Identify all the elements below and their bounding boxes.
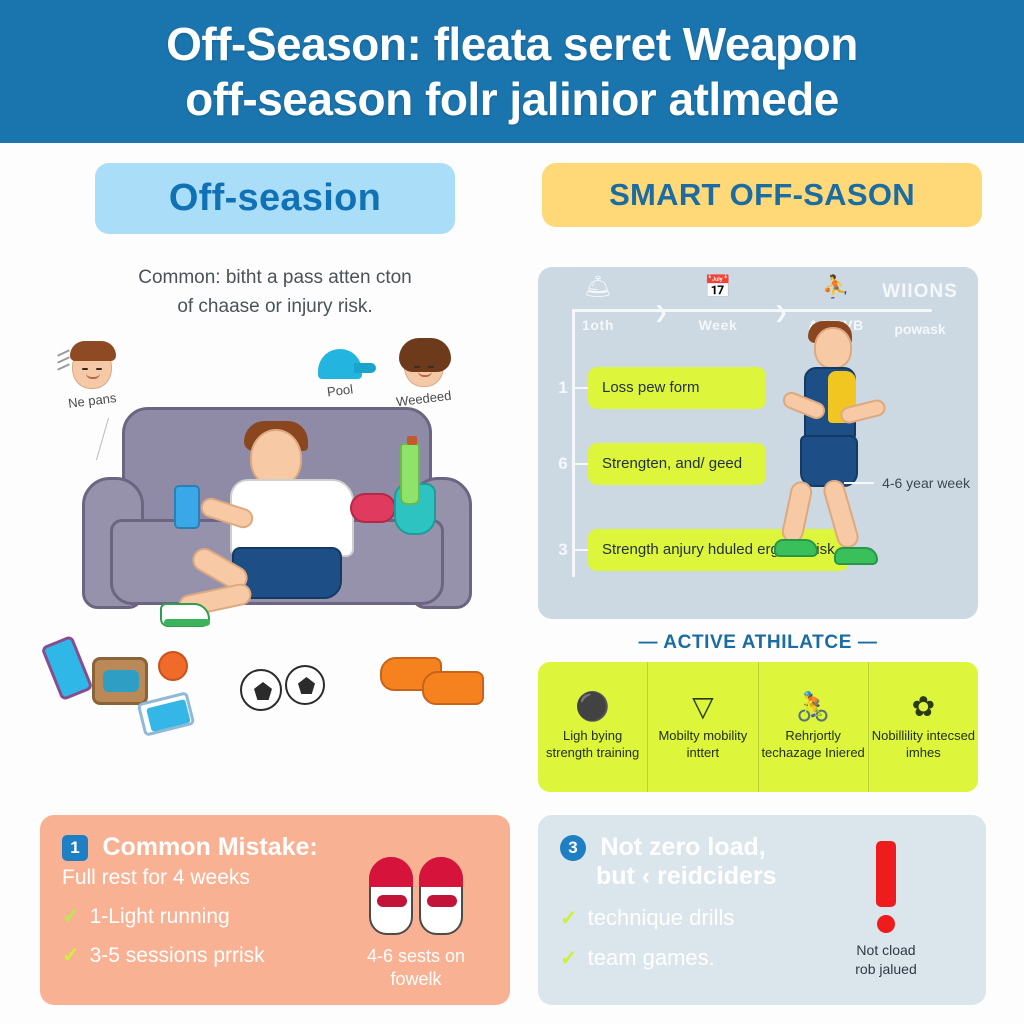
callout-sleepy: Ne pans (68, 345, 116, 408)
check-icon: ✓ (62, 943, 80, 968)
cone-icon: ▽ (692, 692, 714, 722)
active-item-3[interactable]: 🚴 Rehrjortly techazage Iniered (759, 662, 869, 792)
common-mistake-check-2-label: 3-5 sessions prrisk (90, 944, 265, 968)
callout-label-cap: Pool (317, 380, 363, 400)
card-badge-1: 1 (62, 835, 88, 861)
couch-illustration: Ne pans Pool Weedeed (40, 339, 510, 799)
exclamation-mark-icon (876, 841, 896, 907)
timeline-node-1-label: 1oth (550, 317, 646, 333)
timeline-connector (572, 549, 588, 551)
warning-art: Not cload rob jalued (826, 841, 946, 979)
infographic-page: Off-Season: fleata seret Weapon off-seas… (0, 0, 1024, 1024)
calendar-icon: 📅 (670, 275, 766, 299)
left-subcaption: Common: bitht a pass atten cton of chaas… (40, 264, 510, 321)
not-zero-load-card: 3 Not zero load, but ‹ reidciders ✓ tech… (538, 815, 986, 1005)
runner-shoe (834, 547, 878, 565)
common-mistake-card: 1 Common Mistake: Full rest for 4 weeks … (40, 815, 510, 1005)
active-item-1[interactable]: ⚫ Ligh bying strength training (538, 662, 648, 792)
timeline-row-number: 3 (554, 540, 572, 560)
not-zero-load-check-2-label: team games. (588, 945, 715, 971)
shoe-pair-icon (356, 857, 476, 935)
left-subcaption-line-2: of chaase or injury risk. (40, 293, 510, 322)
running-athlete-illustration (770, 319, 900, 609)
timeline-note: 4-6 year week (844, 475, 970, 491)
card-badge-3: 3 (560, 835, 586, 861)
boy-smartphone-icon (174, 485, 200, 529)
mobility-icon: ✿ (912, 692, 935, 722)
running-shoes-art: 4-6 sests on fowelk (356, 857, 476, 990)
timeline-arrow-icon: ❯ (654, 303, 668, 323)
timeline-connector (572, 387, 588, 389)
active-person-icon: ⛹ (788, 275, 884, 299)
shoe-caption-line-1: 4-6 sests on (356, 945, 476, 968)
timeline-panel: 🛎 1oth ❯ 📅 Week ❯ ⛹ ACTIVB WIIONS powask… (538, 267, 978, 619)
water-bottle-icon (400, 443, 420, 505)
not-zero-load-check-1-label: technique drills (588, 905, 735, 931)
check-icon: ✓ (560, 906, 578, 931)
warning-caption-line-2: rob jalued (826, 960, 946, 979)
timeline-row-box: Strengten, and/ geed (588, 443, 766, 485)
shoe-icon (369, 857, 413, 935)
floor-sneaker-icon (422, 671, 484, 705)
active-item-4[interactable]: ✿ Nobillility intecsed imhes (869, 662, 978, 792)
runner-shoe (774, 539, 818, 557)
active-section-strip: ⚫ Ligh bying strength training ▽ Mobilty… (538, 662, 978, 792)
common-mistake-check-1-label: 1-Light running (90, 905, 230, 929)
sleep-lines-icon (57, 352, 70, 373)
timeline-node-2: 📅 Week (670, 275, 766, 333)
active-item-1-label: Ligh bying strength training (540, 728, 645, 762)
shoe-caption: 4-6 sests on fowelk (356, 945, 476, 990)
left-subcaption-line-1: Common: bitht a pass atten cton (40, 264, 510, 293)
timeline-right-label-big: WIIONS (872, 281, 968, 303)
timeline-node-2-label: Week (670, 317, 766, 333)
not-zero-load-title-line-1: Not zero load, (600, 833, 765, 862)
timeline-row: 1 Loss pew form (554, 367, 766, 409)
warning-caption-line-1: Not cload (826, 941, 946, 960)
header-title-line-1: Off-Season: fleata seret Weapon (166, 17, 858, 71)
right-section-pill: SMART OFF-SASON (542, 163, 982, 227)
page-header: Off-Season: fleata seret Weapon off-seas… (0, 0, 1024, 143)
floor-backpack-icon (92, 657, 148, 705)
runner-leg (780, 479, 814, 544)
couch (82, 407, 472, 627)
active-item-2[interactable]: ▽ Mobilty mobility inttert (648, 662, 758, 792)
timeline-row-number: 1 (554, 378, 572, 398)
red-gear-item (350, 493, 396, 523)
timeline-row-box: Loss pew form (588, 367, 766, 409)
shoe-caption-line-2: fowelk (356, 968, 476, 991)
timeline-row: 6 Strengten, and/ geed (554, 443, 766, 485)
warning-caption: Not cload rob jalued (826, 941, 946, 979)
timeline-row-number: 6 (554, 454, 572, 474)
left-section-pill: Off-seasion (95, 163, 455, 234)
weights-stack-icon: ⚫ (575, 692, 610, 722)
check-icon: ✓ (62, 904, 80, 929)
boy-sneaker (160, 603, 210, 627)
active-item-3-label: Rehrjortly techazage Iniered (761, 728, 866, 762)
callout-girl: Weedeed (396, 343, 451, 406)
floor-ball-icon (158, 651, 188, 681)
girl-face-icon (404, 343, 444, 387)
timeline-connector (572, 463, 588, 465)
shoe-icon (419, 857, 463, 935)
right-column: SMART OFF-SASON (538, 163, 986, 227)
floor-phone-icon (40, 635, 93, 702)
check-icon: ✓ (560, 946, 578, 971)
header-title-line-2: off-season folr jalinior atlmede (185, 72, 839, 126)
runner-head (814, 327, 852, 369)
sleepy-face-icon (72, 345, 112, 389)
active-item-4-label: Nobillility intecsed imhes (871, 728, 976, 762)
floor-soccer-ball-icon (285, 665, 325, 705)
left-column: Off-seasion Common: bitht a pass atten c… (40, 163, 510, 799)
timeline-note-label: 4-6 year week (882, 475, 970, 491)
callout-cap: Pool (318, 349, 362, 398)
cap-icon (318, 349, 362, 379)
timeline-node-1: 🛎 1oth (550, 275, 646, 333)
cyclist-icon: 🚴 (796, 692, 831, 722)
active-item-2-label: Mobilty mobility inttert (650, 728, 755, 762)
floor-soccer-ball-icon (240, 669, 282, 711)
active-section-heading: — ACTIVE ATHILATCE — (538, 632, 978, 654)
sitting-person-icon: 🛎 (550, 275, 646, 299)
common-mistake-title: Common Mistake: (102, 833, 317, 862)
note-leader-line (844, 482, 874, 484)
